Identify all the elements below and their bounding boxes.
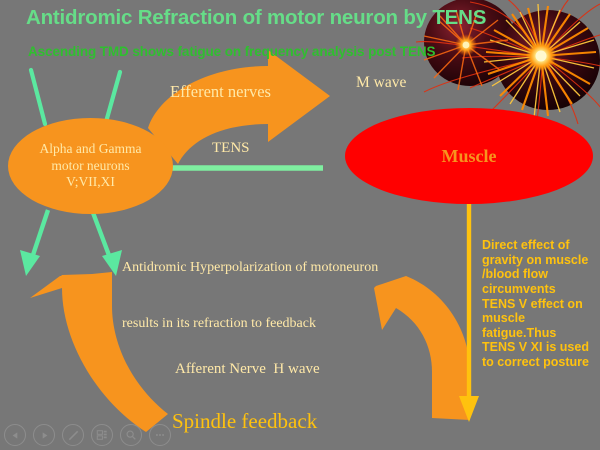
slide-subtitle: Ascending TMD shows fatigue on frequency… bbox=[28, 44, 588, 59]
presentation-slide: Antidromic Refraction of motor neuron by… bbox=[0, 0, 600, 450]
neuron-input-branches bbox=[31, 70, 120, 124]
presentation-toolbar bbox=[4, 424, 171, 446]
m-wave-label: M wave bbox=[356, 74, 406, 92]
spindle-feedback-arrow bbox=[374, 276, 470, 420]
neuron-line-1: Alpha and Gamma bbox=[40, 141, 142, 158]
pen-icon bbox=[67, 429, 80, 442]
neuron-line-3: V;VII,XI bbox=[40, 174, 142, 191]
ellipsis-icon bbox=[154, 429, 166, 441]
antidromic-hyperpolarization-note: Antidromic Hyperpolarization of motoneur… bbox=[122, 221, 378, 372]
next-slide-button[interactable] bbox=[33, 424, 55, 446]
gravity-effect-note: Direct effect of gravity on muscle /bloo… bbox=[482, 238, 592, 370]
neuron-output-arrow-left bbox=[20, 210, 48, 276]
muscle-label: Muscle bbox=[442, 146, 497, 167]
neuron-line-2: motor neurons bbox=[40, 158, 142, 175]
grid-icon bbox=[96, 429, 108, 441]
efferent-nerves-label: Efferent nerves bbox=[170, 82, 271, 102]
muscle-node: Muscle bbox=[345, 108, 593, 204]
slide-overview-button[interactable] bbox=[91, 424, 113, 446]
triangle-right-icon bbox=[40, 431, 49, 440]
antidromic-note-line-2: results in its refraction to feedback bbox=[122, 315, 378, 334]
zoom-button[interactable] bbox=[120, 424, 142, 446]
tens-label: TENS bbox=[212, 140, 250, 157]
triangle-left-icon bbox=[11, 431, 20, 440]
more-options-button[interactable] bbox=[149, 424, 171, 446]
neuron-output-arrow-right bbox=[92, 210, 122, 276]
motor-neuron-node: Alpha and Gamma motor neurons V;VII,XI bbox=[8, 118, 173, 214]
magnifier-icon bbox=[125, 429, 137, 441]
motor-neuron-label: Alpha and Gamma motor neurons V;VII,XI bbox=[40, 141, 142, 192]
gravity-arrow bbox=[459, 196, 479, 422]
antidromic-note-line-1: Antidromic Hyperpolarization of motoneur… bbox=[122, 259, 378, 278]
afferent-nerve-label: Afferent Nerve H wave bbox=[175, 361, 320, 378]
slide-title: Antidromic Refraction of motor neuron by… bbox=[26, 6, 586, 30]
previous-slide-button[interactable] bbox=[4, 424, 26, 446]
pen-tool-button[interactable] bbox=[62, 424, 84, 446]
spindle-feedback-label: Spindle feedback bbox=[172, 409, 317, 434]
